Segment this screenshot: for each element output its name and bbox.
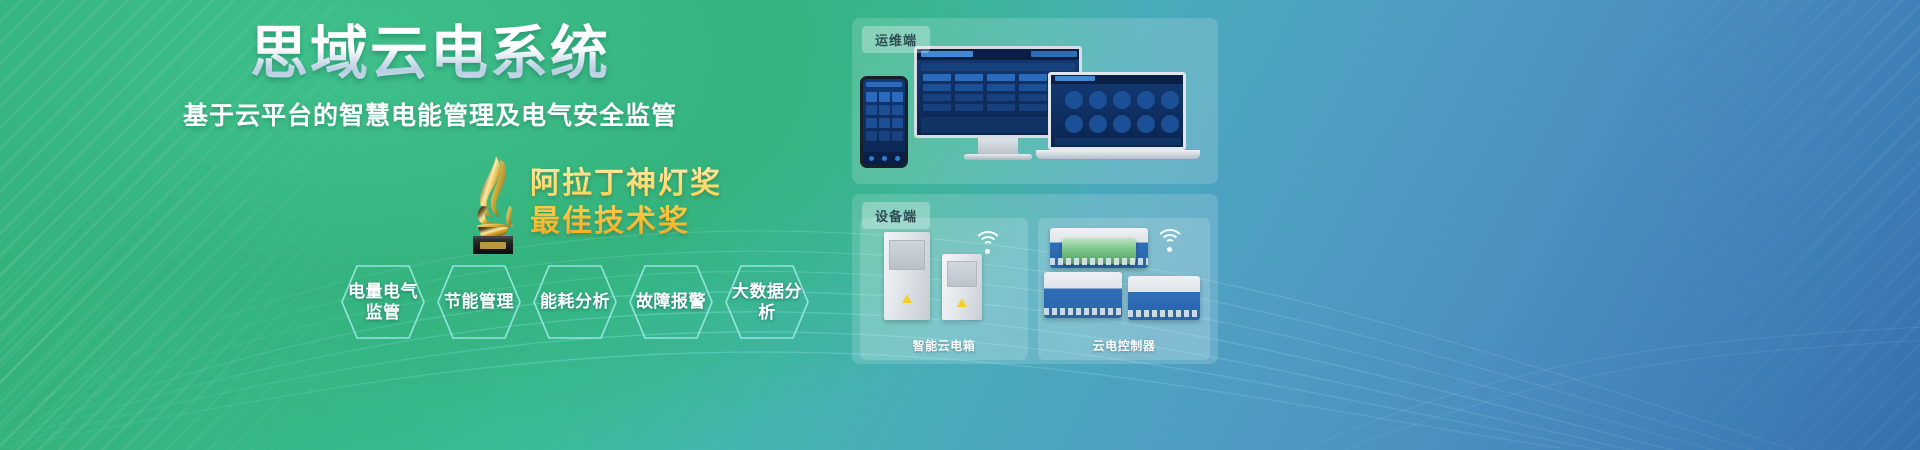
- page-title: 思域云电系统: [0, 22, 860, 85]
- feature-badge-big-data-analysis[interactable]: 大数据分析: [724, 262, 810, 342]
- award-line-2: 最佳技术奖: [530, 203, 722, 241]
- feature-badge-label: 电量电气监管: [348, 281, 418, 324]
- ops-terminal-tag: 运维端: [862, 26, 930, 53]
- left-content-column: 思域云电系统 思域云电系统 基于云平台的智慧电能管理及电气安全监管: [0, 0, 860, 450]
- award-line-1: 阿拉丁神灯奖: [530, 165, 722, 203]
- laptop-base: [1036, 150, 1200, 159]
- device-caption: 云电控制器: [1038, 337, 1210, 354]
- right-showcase-column: 运维端: [852, 18, 1224, 430]
- device-terminal-tag: 设备端: [862, 202, 930, 229]
- cloud-controller-card: 云电控制器: [1038, 218, 1210, 360]
- monitor-stand: [978, 138, 1018, 154]
- feature-badge-label: 故障报警: [636, 291, 706, 312]
- feature-badge-energy-saving[interactable]: 节能管理: [436, 262, 522, 342]
- ops-terminal-panel: 运维端: [852, 18, 1218, 184]
- smart-cloud-box-large: [884, 232, 930, 320]
- award-text: 阿拉丁神灯奖 最佳技术奖: [530, 165, 722, 242]
- smart-cloud-box-card: 智能云电箱: [860, 218, 1028, 360]
- wifi-icon: [1158, 228, 1192, 258]
- feature-badge-fault-alarm[interactable]: 故障报警: [628, 262, 714, 342]
- feature-badge-consumption-analysis[interactable]: 能耗分析: [532, 262, 618, 342]
- smart-cloud-box-small: [942, 254, 982, 320]
- wifi-icon: [976, 230, 1010, 260]
- phone-mockup: [860, 76, 908, 168]
- diagonal-hatch-right-decoration: [1560, 0, 1920, 450]
- cloud-controller-left: [1044, 272, 1122, 318]
- monitor-base: [964, 154, 1032, 160]
- trophy-icon: [452, 148, 532, 258]
- feature-badge-label: 能耗分析: [540, 291, 610, 312]
- page-subtitle: 基于云平台的智慧电能管理及电气安全监管: [0, 96, 860, 132]
- laptop-mockup: [1048, 72, 1186, 150]
- cloud-controller-top: [1050, 228, 1148, 268]
- feature-badge-power-monitoring[interactable]: 电量电气监管: [340, 262, 426, 342]
- ops-terminal-devices: [852, 40, 1218, 182]
- device-caption: 智能云电箱: [860, 337, 1028, 354]
- cloud-controller-right: [1128, 276, 1200, 320]
- feature-badge-list: 电量电气监管 节能管理 能耗分析 故障报警: [340, 262, 810, 342]
- promo-banner: 思域云电系统 思域云电系统 基于云平台的智慧电能管理及电气安全监管: [0, 0, 1920, 450]
- feature-badge-label: 大数据分析: [732, 281, 802, 324]
- feature-badge-label: 节能管理: [444, 291, 514, 312]
